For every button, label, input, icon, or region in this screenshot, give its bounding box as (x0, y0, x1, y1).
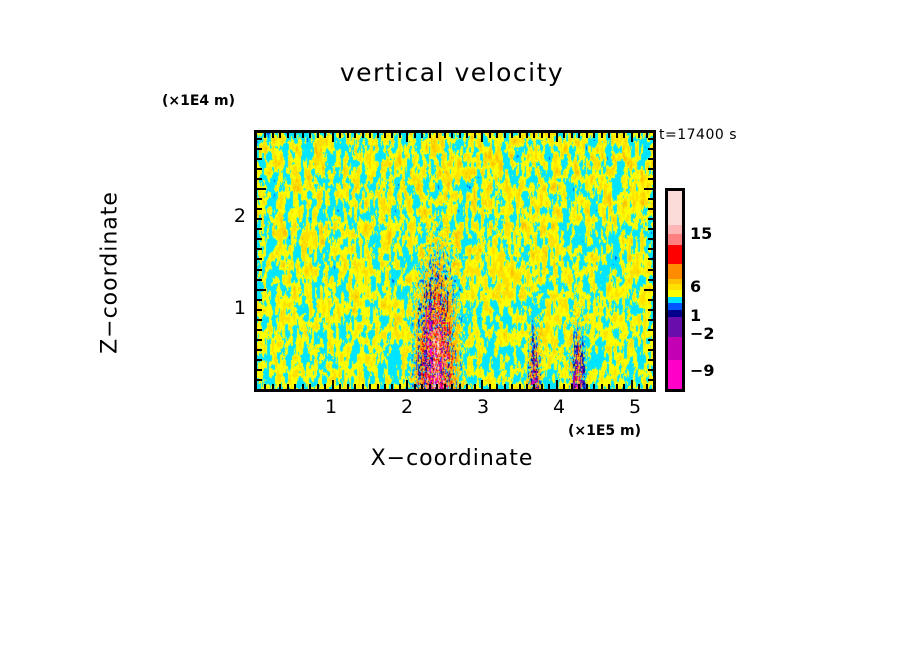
x-axis-minor-tick (571, 133, 573, 138)
y-axis-minor-tick (648, 349, 653, 351)
x-axis-minor-tick (586, 133, 588, 138)
x-axis-minor-tick (608, 133, 610, 138)
colorbar-band (668, 264, 682, 278)
figure-canvas: vertical velocity (×1E4 m) (×1E5 m) t=17… (0, 0, 904, 654)
x-axis-minor-tick (302, 384, 304, 389)
y-axis-minor-tick (257, 329, 262, 331)
x-axis-major-tick (481, 133, 483, 142)
colorbar-band (668, 290, 682, 297)
x-axis-minor-tick (451, 133, 453, 138)
x-axis-minor-tick (496, 133, 498, 138)
x-axis-tick-label: 5 (615, 396, 655, 418)
x-axis-minor-tick (653, 384, 655, 389)
x-axis-minor-tick (436, 133, 438, 138)
x-axis-minor-tick (489, 384, 491, 389)
x-axis-minor-tick (421, 133, 423, 138)
x-axis-minor-tick (444, 133, 446, 138)
x-axis-minor-tick (623, 133, 625, 138)
x-axis-minor-tick (466, 133, 468, 138)
y-axis-minor-tick (648, 379, 653, 381)
colorbar-tick-label: −9 (690, 361, 715, 380)
x-axis-minor-tick (623, 384, 625, 389)
x-axis-minor-tick (638, 384, 640, 389)
y-axis-minor-tick (648, 178, 653, 180)
x-axis-minor-tick (511, 133, 513, 138)
x-axis-minor-tick (436, 384, 438, 389)
x-axis-tick-label: 4 (539, 396, 579, 418)
colorbar-band (668, 303, 682, 310)
y-axis-minor-tick (257, 178, 262, 180)
x-axis-tick-label: 1 (311, 396, 351, 418)
y-axis-minor-tick (648, 279, 653, 281)
colorbar-band (668, 225, 682, 235)
y-axis-minor-tick (257, 299, 262, 301)
y-axis-minor-tick (648, 258, 653, 260)
y-axis-major-tick (644, 188, 653, 190)
x-axis-major-tick (406, 133, 408, 142)
x-axis-major-tick (406, 380, 408, 389)
y-axis-minor-tick (257, 349, 262, 351)
y-axis-minor-tick (257, 379, 262, 381)
x-axis-minor-tick (593, 384, 595, 389)
y-axis-minor-tick (648, 339, 653, 341)
x-axis-minor-tick (638, 133, 640, 138)
y-axis-minor-tick (257, 258, 262, 260)
x-axis-minor-tick (347, 384, 349, 389)
x-axis-minor-tick (646, 384, 648, 389)
y-axis-minor-tick (257, 208, 262, 210)
x-axis-minor-tick (586, 384, 588, 389)
y-axis-minor-tick (257, 138, 262, 140)
x-axis-tick-label: 2 (387, 396, 427, 418)
colorbar-band (668, 310, 682, 317)
x-axis-minor-tick (504, 384, 506, 389)
y-axis-minor-tick (257, 369, 262, 371)
x-axis-minor-tick (302, 133, 304, 138)
x-axis-minor-tick (279, 133, 281, 138)
x-axis-minor-tick (593, 133, 595, 138)
x-axis-minor-tick (578, 384, 580, 389)
y-axis-minor-tick (648, 299, 653, 301)
colorbar-band (668, 317, 682, 338)
y-axis-minor-tick (648, 158, 653, 160)
x-axis-minor-tick (377, 133, 379, 138)
x-axis-minor-tick (264, 384, 266, 389)
x-axis-major-tick (631, 133, 633, 142)
x-axis-minor-tick (519, 384, 521, 389)
x-axis-minor-tick (294, 133, 296, 138)
y-axis-minor-tick (648, 218, 653, 220)
x-axis-minor-tick (459, 133, 461, 138)
x-axis-minor-tick (384, 133, 386, 138)
x-axis-minor-tick (362, 133, 364, 138)
y-axis-minor-tick (257, 339, 262, 341)
x-axis-minor-tick (317, 384, 319, 389)
x-axis-minor-tick (287, 133, 289, 138)
y-axis-units-label: (×1E4 m) (162, 93, 235, 109)
y-axis-minor-tick (257, 279, 262, 281)
x-axis-tick-label: 3 (463, 396, 503, 418)
x-axis-minor-tick (444, 384, 446, 389)
x-axis-minor-tick (548, 384, 550, 389)
y-axis-minor-tick (648, 309, 653, 311)
x-axis-minor-tick (526, 384, 528, 389)
x-axis-minor-tick (533, 133, 535, 138)
x-axis-minor-tick (339, 384, 341, 389)
y-axis-minor-tick (257, 248, 262, 250)
y-axis-minor-tick (257, 218, 262, 220)
x-axis-minor-tick (317, 133, 319, 138)
x-axis-minor-tick (429, 384, 431, 389)
x-axis-minor-tick (279, 384, 281, 389)
x-axis-minor-tick (466, 384, 468, 389)
y-axis-minor-tick (648, 198, 653, 200)
x-axis-title: X−coordinate (0, 446, 904, 471)
x-axis-minor-tick (616, 133, 618, 138)
colorbar (665, 188, 685, 392)
x-axis-minor-tick (601, 133, 603, 138)
y-axis-minor-tick (257, 309, 262, 311)
y-axis-tick-label: 2 (206, 205, 246, 227)
y-axis-title: Z−coordinate (98, 153, 123, 393)
x-axis-major-tick (556, 380, 558, 389)
y-axis-minor-tick (648, 248, 653, 250)
x-axis-minor-tick (653, 133, 655, 138)
y-axis-minor-tick (257, 198, 262, 200)
x-axis-minor-tick (578, 133, 580, 138)
x-axis-minor-tick (519, 133, 521, 138)
x-axis-minor-tick (504, 133, 506, 138)
y-axis-minor-tick (648, 148, 653, 150)
y-axis-minor-tick (648, 208, 653, 210)
x-axis-minor-tick (563, 133, 565, 138)
y-axis-minor-tick (257, 158, 262, 160)
y-axis-minor-tick (257, 228, 262, 230)
x-axis-minor-tick (272, 133, 274, 138)
x-axis-minor-tick (369, 384, 371, 389)
y-axis-minor-tick (648, 269, 653, 271)
x-axis-minor-tick (414, 384, 416, 389)
x-axis-minor-tick (339, 133, 341, 138)
x-axis-minor-tick (309, 133, 311, 138)
x-axis-minor-tick (608, 384, 610, 389)
x-axis-minor-tick (474, 133, 476, 138)
x-axis-minor-tick (459, 384, 461, 389)
x-axis-major-tick (332, 133, 334, 142)
x-axis-minor-tick (324, 133, 326, 138)
x-axis-minor-tick (309, 384, 311, 389)
x-axis-minor-tick (541, 384, 543, 389)
y-axis-minor-tick (257, 319, 262, 321)
x-axis-minor-tick (377, 384, 379, 389)
x-axis-minor-tick (563, 384, 565, 389)
x-axis-minor-tick (391, 384, 393, 389)
x-axis-minor-tick (369, 133, 371, 138)
x-axis-minor-tick (272, 384, 274, 389)
y-axis-minor-tick (648, 319, 653, 321)
x-axis-minor-tick (384, 384, 386, 389)
x-axis-minor-tick (354, 384, 356, 389)
x-axis-minor-tick (526, 133, 528, 138)
y-axis-minor-tick (648, 138, 653, 140)
y-axis-minor-tick (257, 168, 262, 170)
x-axis-major-tick (481, 380, 483, 389)
x-axis-units-label: (×1E5 m) (568, 423, 641, 439)
plot-area (254, 130, 656, 392)
x-axis-minor-tick (533, 384, 535, 389)
y-axis-minor-tick (648, 369, 653, 371)
colorbar-band (668, 191, 682, 225)
y-axis-minor-tick (648, 228, 653, 230)
x-axis-major-tick (631, 380, 633, 389)
x-axis-minor-tick (287, 384, 289, 389)
x-axis-minor-tick (451, 384, 453, 389)
x-axis-minor-tick (616, 384, 618, 389)
y-axis-minor-tick (648, 168, 653, 170)
x-axis-minor-tick (429, 133, 431, 138)
x-axis-major-tick (556, 133, 558, 142)
x-axis-minor-tick (399, 133, 401, 138)
x-axis-major-tick (332, 380, 334, 389)
y-axis-minor-tick (257, 269, 262, 271)
colorbar-band (668, 360, 682, 389)
y-axis-major-tick (644, 289, 653, 291)
y-axis-minor-tick (648, 238, 653, 240)
colorbar-band (668, 245, 682, 264)
colorbar-tick-label: 1 (690, 306, 701, 325)
x-axis-minor-tick (362, 384, 364, 389)
colorbar-tick-label: −2 (690, 324, 715, 343)
x-axis-minor-tick (294, 384, 296, 389)
velocity-field-heatmap (257, 133, 653, 389)
x-axis-minor-tick (496, 384, 498, 389)
x-axis-minor-tick (489, 133, 491, 138)
x-axis-minor-tick (347, 133, 349, 138)
y-axis-minor-tick (257, 148, 262, 150)
x-axis-minor-tick (324, 384, 326, 389)
x-axis-minor-tick (264, 133, 266, 138)
colorbar-tick-label: 6 (690, 277, 701, 296)
colorbar-band (668, 234, 682, 244)
x-axis-minor-tick (541, 133, 543, 138)
y-axis-minor-tick (648, 329, 653, 331)
x-axis-minor-tick (354, 133, 356, 138)
y-axis-tick-label: 1 (206, 297, 246, 319)
x-axis-minor-tick (391, 133, 393, 138)
page-title: vertical velocity (0, 58, 904, 87)
x-axis-minor-tick (571, 384, 573, 389)
colorbar-tick-label: 15 (690, 224, 712, 243)
x-axis-minor-tick (421, 384, 423, 389)
colorbar-band (668, 337, 682, 360)
time-annotation: t=17400 s (659, 127, 737, 143)
y-axis-minor-tick (257, 238, 262, 240)
y-axis-major-tick (257, 289, 266, 291)
x-axis-minor-tick (414, 133, 416, 138)
x-axis-minor-tick (474, 384, 476, 389)
x-axis-minor-tick (548, 133, 550, 138)
y-axis-minor-tick (257, 359, 262, 361)
y-axis-minor-tick (648, 359, 653, 361)
x-axis-minor-tick (601, 384, 603, 389)
y-axis-major-tick (257, 188, 266, 190)
x-axis-minor-tick (511, 384, 513, 389)
x-axis-minor-tick (399, 384, 401, 389)
